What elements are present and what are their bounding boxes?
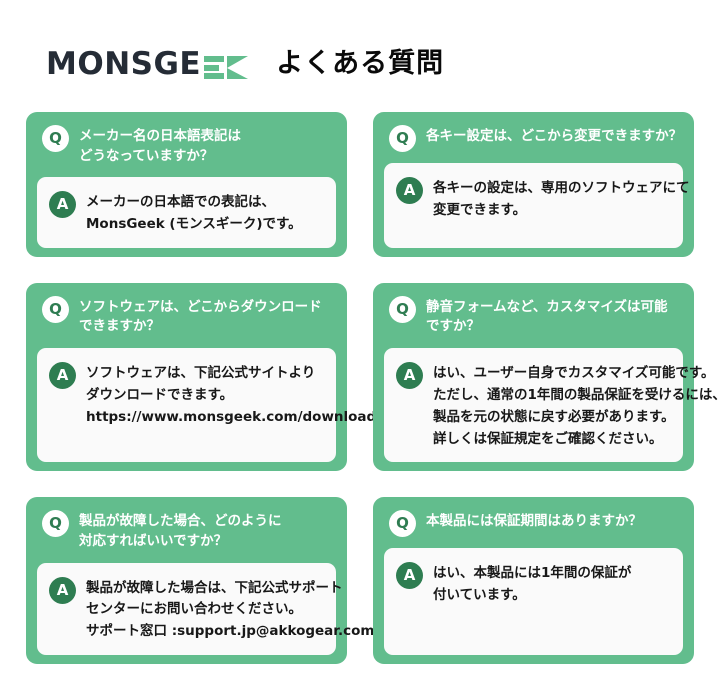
faq-answer: A はい、ユーザー自身でカスタマイズ可能です。 ただし、通常の1年間の製品保証を…	[384, 348, 683, 462]
question-text: 製品が故障した場合、どのように 対応すればいいですか？	[79, 510, 282, 551]
question-text: メーカー名の日本語表記は どうなっていますか？	[79, 125, 241, 166]
answer-text: はい、ユーザー自身でカスタマイズ可能です。 ただし、通常の1年間の製品保証を受け…	[433, 362, 720, 450]
question-line: できますか？	[79, 317, 322, 337]
faq-question: Q 各キー設定は、どこから変更できますか？	[384, 125, 683, 163]
question-line: 本製品には保証期間はありますか？	[426, 512, 642, 532]
answer-text: はい、本製品には1年間の保証が 付いています。	[433, 562, 631, 607]
answer-line: 詳しくは保証規定をご確認ください。	[433, 429, 720, 451]
question-text: 各キー設定は、どこから変更できますか？	[426, 125, 682, 147]
question-badge-icon: Q	[42, 125, 69, 152]
question-line: ですか？	[426, 317, 668, 337]
question-text: ソフトウェアは、どこからダウンロード できますか？	[79, 296, 322, 337]
answer-badge-icon: A	[396, 562, 423, 589]
faq-answer: A 各キーの設定は、専用のソフトウェアにて 変更できます。	[384, 163, 683, 248]
answer-text: 各キーの設定は、専用のソフトウェアにて 変更できます。	[433, 177, 690, 222]
question-badge-icon: Q	[42, 296, 69, 323]
answer-line: ソフトウェアは、下記公式サイトより	[86, 363, 381, 385]
answer-badge-icon: A	[49, 362, 76, 389]
faq-card[interactable]: Q メーカー名の日本語表記は どうなっていますか？ A メーカーの日本語での表記…	[26, 112, 347, 257]
logo-wordmark: MONSGE	[46, 49, 201, 80]
faq-grid: Q メーカー名の日本語表記は どうなっていますか？ A メーカーの日本語での表記…	[26, 112, 694, 664]
faq-card[interactable]: Q 静音フォームなど、カスタマイズは可能 ですか？ A はい、ユーザー自身でカス…	[373, 283, 694, 472]
logo-k-glyph-icon	[227, 56, 248, 79]
question-badge-icon: Q	[389, 296, 416, 323]
question-line: メーカー名の日本語表記は	[79, 127, 241, 147]
faq-card[interactable]: Q 本製品には保証期間はありますか？ A はい、本製品には1年間の保証が 付いて…	[373, 497, 694, 664]
answer-badge-icon: A	[396, 362, 423, 389]
question-text: 静音フォームなど、カスタマイズは可能 ですか？	[426, 296, 668, 337]
answer-text: メーカーの日本語での表記は、 MonsGeek (モンスギーク)です。	[86, 191, 302, 236]
answer-badge-icon: A	[396, 177, 423, 204]
faq-card[interactable]: Q 各キー設定は、どこから変更できますか？ A 各キーの設定は、専用のソフトウェ…	[373, 112, 694, 257]
answer-badge-icon: A	[49, 191, 76, 218]
faq-card[interactable]: Q ソフトウェアは、どこからダウンロード できますか？ A ソフトウェアは、下記…	[26, 283, 347, 472]
question-line: 各キー設定は、どこから変更できますか？	[426, 127, 682, 147]
answer-line: メーカーの日本語での表記は、	[86, 192, 302, 214]
monsgeek-logo: MONSGE	[46, 46, 248, 80]
answer-line: 変更できます。	[433, 200, 690, 222]
answer-line: MonsGeek (モンスギーク)です。	[86, 214, 302, 236]
faq-question: Q 静音フォームなど、カスタマイズは可能 ですか？	[384, 296, 683, 348]
page-header: MONSGE よくある質問	[46, 46, 444, 80]
question-badge-icon: Q	[389, 510, 416, 537]
answer-line: ダウンロードできます。	[86, 385, 381, 407]
question-badge-icon: Q	[42, 510, 69, 537]
question-line: 製品が故障した場合、どのように	[79, 512, 282, 532]
faq-page: MONSGE よくある質問 Q メーカー名の日本語表記は どうなっていますか？	[0, 0, 720, 693]
question-line: 静音フォームなど、カスタマイズは可能	[426, 298, 668, 318]
faq-question: Q 本製品には保証期間はありますか？	[384, 510, 683, 548]
faq-answer: A メーカーの日本語での表記は、 MonsGeek (モンスギーク)です。	[37, 177, 336, 248]
logo-e-glyph-icon	[204, 56, 224, 79]
faq-question: Q 製品が故障した場合、どのように 対応すればいいですか？	[37, 510, 336, 562]
answer-link[interactable]: https://www.monsgeek.com/download/	[86, 407, 381, 429]
question-line: 対応すればいいですか？	[79, 532, 282, 552]
faq-card[interactable]: Q 製品が故障した場合、どのように 対応すればいいですか？ A 製品が故障した場…	[26, 497, 347, 664]
answer-text: 製品が故障した場合は、下記公式サポート センターにお問い合わせください。 サポー…	[86, 577, 375, 644]
answer-text: ソフトウェアは、下記公式サイトより ダウンロードできます。 https://ww…	[86, 362, 381, 429]
faq-answer: A はい、本製品には1年間の保証が 付いています。	[384, 548, 683, 655]
faq-question: Q ソフトウェアは、どこからダウンロード できますか？	[37, 296, 336, 348]
question-badge-icon: Q	[389, 125, 416, 152]
answer-line: 付いています。	[433, 585, 631, 607]
faq-answer: A ソフトウェアは、下記公式サイトより ダウンロードできます。 https://…	[37, 348, 336, 462]
answer-line: 各キーの設定は、専用のソフトウェアにて	[433, 178, 690, 200]
faq-question: Q メーカー名の日本語表記は どうなっていますか？	[37, 125, 336, 177]
question-line: どうなっていますか？	[79, 147, 241, 167]
question-line: ソフトウェアは、どこからダウンロード	[79, 298, 322, 318]
answer-badge-icon: A	[49, 577, 76, 604]
faq-answer: A 製品が故障した場合は、下記公式サポート センターにお問い合わせください。 サ…	[37, 563, 336, 656]
answer-line: 製品が故障した場合は、下記公式サポート	[86, 578, 375, 600]
answer-line: センターにお問い合わせください。	[86, 599, 375, 621]
page-title: よくある質問	[276, 50, 444, 77]
logo-ek-mark	[204, 56, 248, 80]
answer-line: ただし、通常の1年間の製品保証を受けるには、	[433, 385, 720, 407]
question-text: 本製品には保証期間はありますか？	[426, 510, 642, 532]
answer-line: はい、本製品には1年間の保証が	[433, 563, 631, 585]
answer-line: はい、ユーザー自身でカスタマイズ可能です。	[433, 363, 720, 385]
answer-line: 製品を元の状態に戻す必要があります。	[433, 407, 720, 429]
answer-email[interactable]: サポート窓口 :support.jp@akkogear.com	[86, 621, 375, 643]
